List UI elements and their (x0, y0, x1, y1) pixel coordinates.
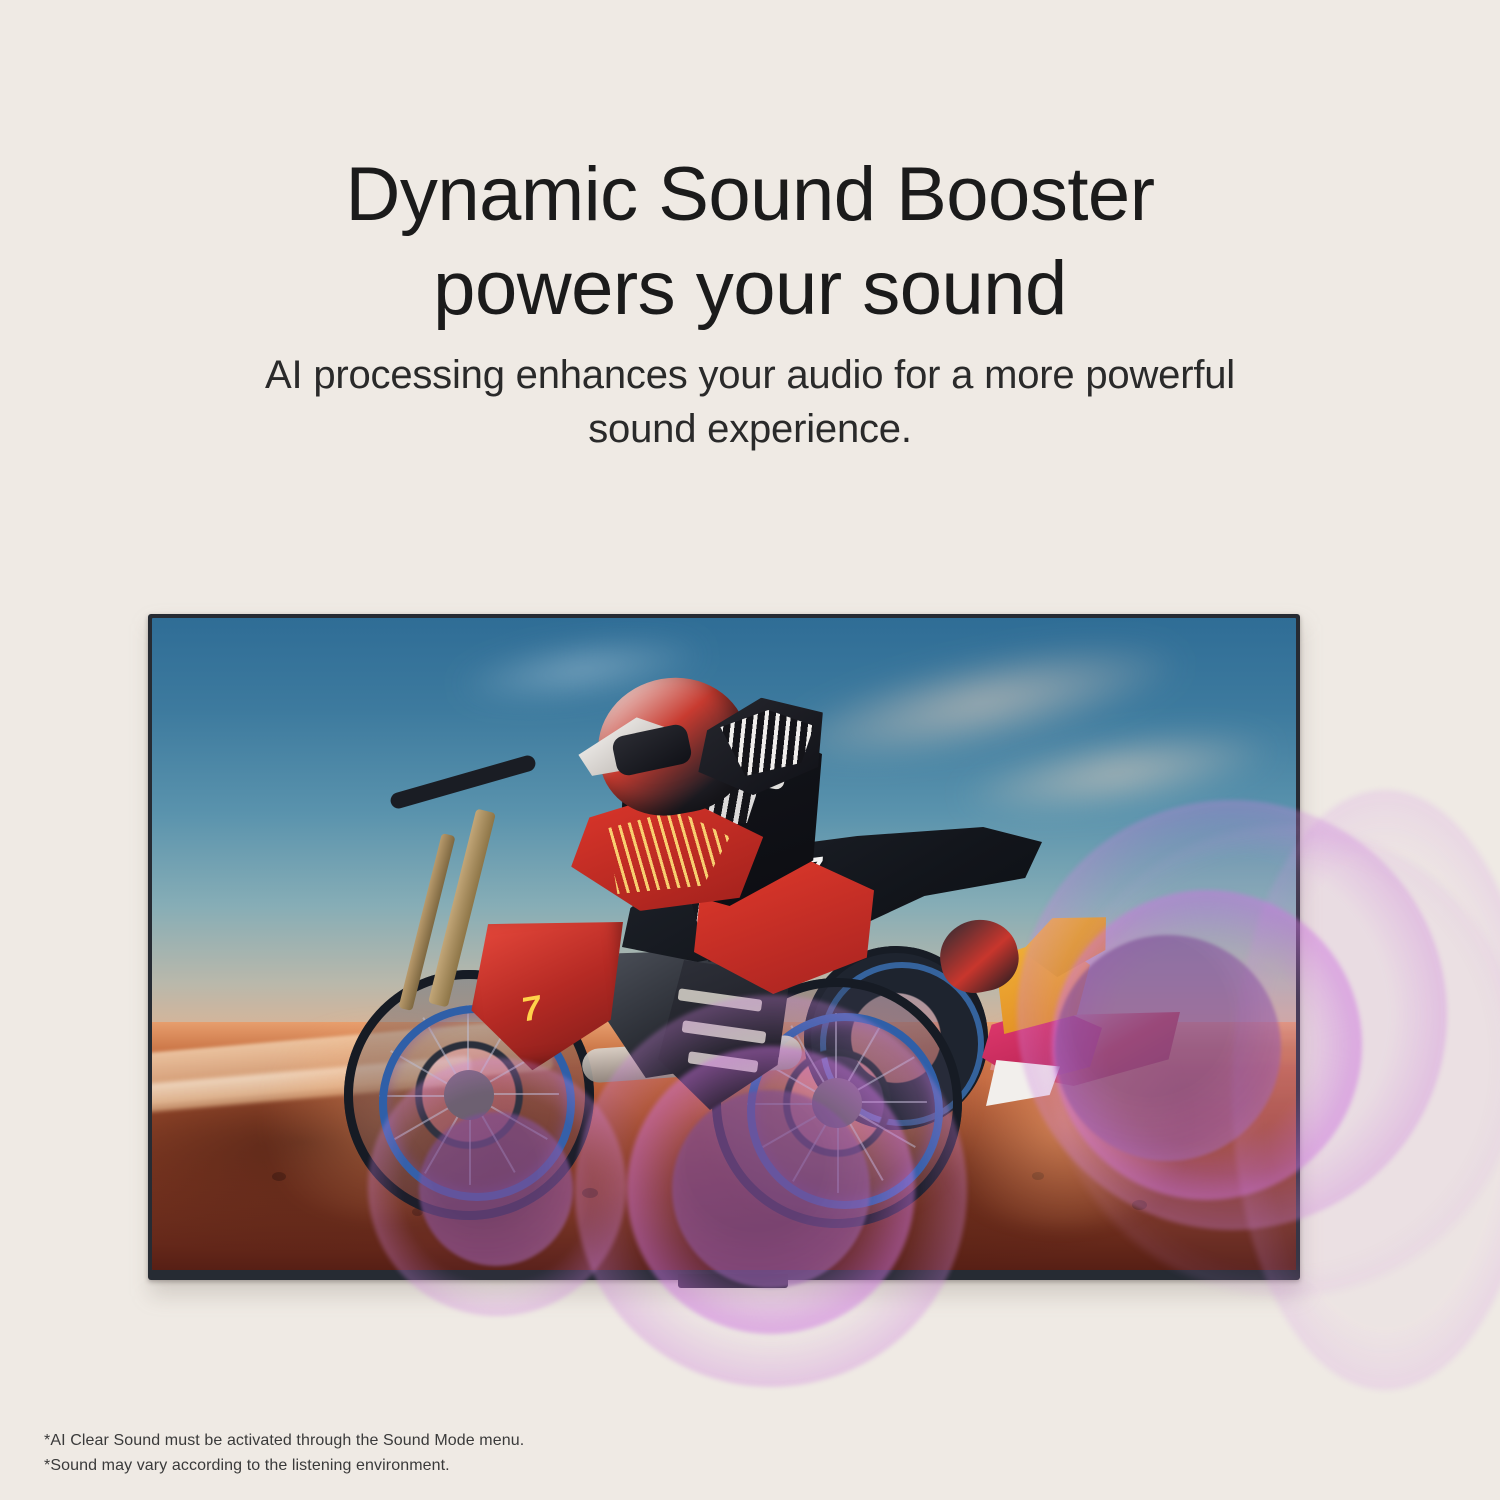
tv-product-image: 34 (148, 614, 1304, 1290)
tv-bezel: 34 (148, 614, 1300, 1280)
footnote-line-2: *Sound may vary according to the listeni… (44, 1453, 524, 1478)
page-title-line-2: powers your sound (0, 242, 1500, 336)
page-title: Dynamic Sound Booster powers your sound (0, 148, 1500, 336)
rear-wheel-hub (812, 1078, 862, 1128)
page-subtitle: AI processing enhances your audio for a … (0, 348, 1500, 456)
page-subtitle-line-2: sound experience. (0, 402, 1500, 456)
tv-stand (678, 1274, 788, 1288)
tv-screen: 34 (152, 618, 1296, 1270)
page-subtitle-line-1: AI processing enhances your audio for a … (0, 348, 1500, 402)
footnote-block: *AI Clear Sound must be activated throug… (44, 1428, 524, 1478)
footnote-line-1: *AI Clear Sound must be activated throug… (44, 1428, 524, 1453)
lead-rider (482, 664, 862, 1084)
page-title-line-1: Dynamic Sound Booster (0, 148, 1500, 242)
